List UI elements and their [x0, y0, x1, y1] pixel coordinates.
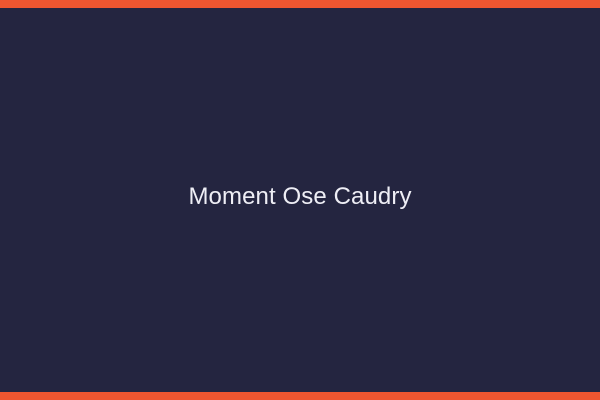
placeholder-label: Moment Ose Caudry: [0, 0, 600, 400]
accent-bar-bottom: [0, 392, 600, 400]
placeholder-card: Moment Ose Caudry: [0, 0, 600, 400]
